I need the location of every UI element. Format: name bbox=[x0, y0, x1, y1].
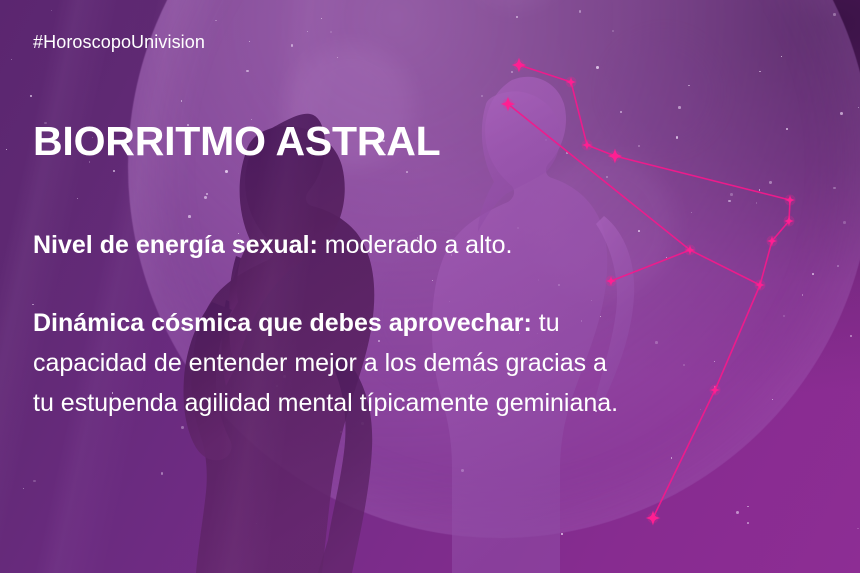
energy-value: moderado a alto. bbox=[318, 231, 513, 259]
energy-line: Nivel de energía sexual: moderado a alto… bbox=[33, 225, 833, 265]
horoscope-card: #HoroscopoUnivision BIORRITMO ASTRAL Niv… bbox=[0, 0, 860, 573]
energy-label: Nivel de energía sexual: bbox=[33, 231, 318, 259]
dynamic-line-3: tu estupenda agilidad mental típicamente… bbox=[33, 383, 833, 423]
dynamic-line-2: capacidad de entender mejor a los demás … bbox=[33, 343, 833, 383]
page-title: BIORRITMO ASTRAL bbox=[33, 119, 441, 163]
dynamic-value-part-1: tu bbox=[532, 309, 560, 337]
dynamic-line-1: Dinámica cósmica que debes aprovechar: t… bbox=[33, 303, 833, 343]
energy-paragraph: Nivel de energía sexual: moderado a alto… bbox=[33, 225, 833, 265]
dynamic-paragraph: Dinámica cósmica que debes aprovechar: t… bbox=[33, 303, 833, 423]
text-content: #HoroscopoUnivision BIORRITMO ASTRAL Niv… bbox=[0, 0, 860, 573]
dynamic-label: Dinámica cósmica que debes aprovechar: bbox=[33, 309, 532, 337]
hashtag-label: #HoroscopoUnivision bbox=[33, 32, 205, 53]
